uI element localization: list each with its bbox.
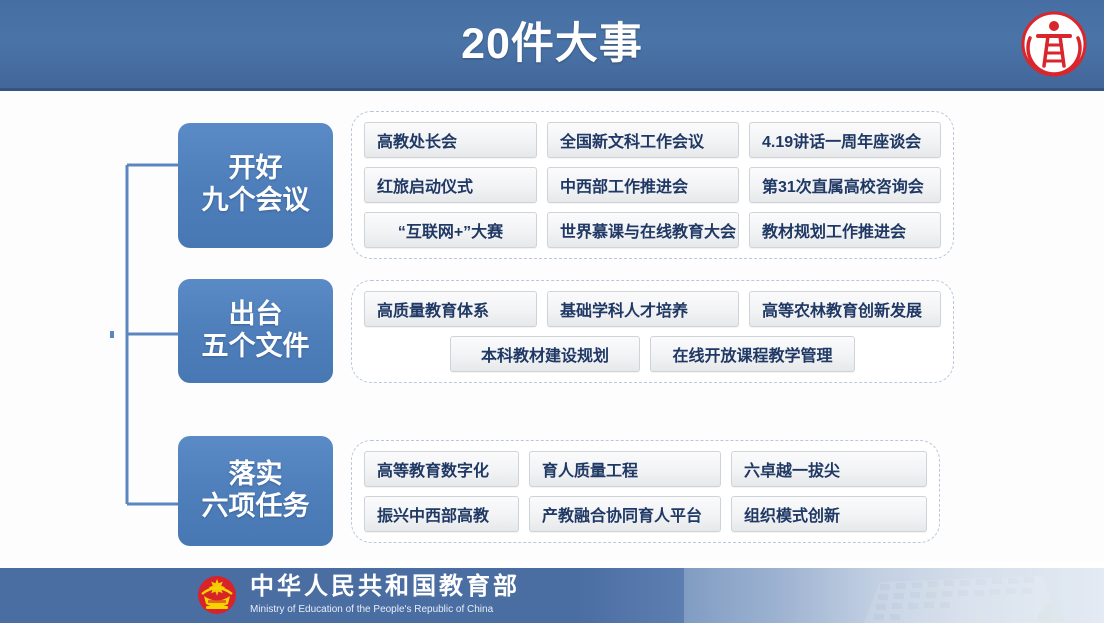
group-3-row-1: 高等教育数字化 育人质量工程 六卓越一拔尖 <box>364 451 927 487</box>
item-chip[interactable]: 基础学科人才培养 <box>547 291 739 327</box>
item-chip[interactable]: 本科教材建设规划 <box>450 336 640 372</box>
item-chip[interactable]: “互联网+”大赛 <box>364 212 537 248</box>
group-row-1: 开好 九个会议 高教处长会 全国新文科工作会议 4.19讲话一周年座谈会 红旅启… <box>178 111 954 259</box>
slide-header: 20件大事 <box>0 0 1104 88</box>
group-1-row-3: “互联网+”大赛 世界慕课与在线教育大会 教材规划工作推进会 <box>364 212 941 248</box>
group-1-row-1: 高教处长会 全国新文科工作会议 4.19讲话一周年座谈会 <box>364 122 941 158</box>
footer-brand: 中华人民共和国教育部 Ministry of Education of the … <box>196 574 520 616</box>
national-emblem-icon <box>196 574 238 616</box>
group-3-row-2: 振兴中西部高教 产教融合协同育人平台 组织模式创新 <box>364 496 927 532</box>
footer-ministry-name-en: Ministry of Education of the People's Re… <box>250 603 520 616</box>
group-2-items-container: 高质量教育体系 基础学科人才培养 高等农林教育创新发展 本科教材建设规划 在线开… <box>351 280 954 383</box>
item-chip[interactable]: 4.19讲话一周年座谈会 <box>749 122 941 158</box>
item-chip[interactable]: 六卓越一拔尖 <box>731 451 927 487</box>
group-2-row-1: 高质量教育体系 基础学科人才培养 高等农林教育创新发展 <box>364 291 941 327</box>
group-label-1-line2: 九个会议 <box>202 185 310 217</box>
group-row-3: 落实 六项任务 高等教育数字化 育人质量工程 六卓越一拔尖 振兴中西部高教 产教… <box>178 436 940 546</box>
item-chip[interactable]: 振兴中西部高教 <box>364 496 519 532</box>
footer-text-block: 中华人民共和国教育部 Ministry of Education of the … <box>250 574 520 615</box>
group-label-3[interactable]: 落实 六项任务 <box>178 436 333 546</box>
slide-root: 20件大事 开好 九个会议 <box>0 0 1104 623</box>
item-chip[interactable]: 组织模式创新 <box>731 496 927 532</box>
item-chip[interactable]: 世界慕课与在线教育大会 <box>547 212 739 248</box>
item-chip[interactable]: 红旅启动仪式 <box>364 167 537 203</box>
ministry-building-photo <box>684 568 1104 623</box>
item-chip[interactable]: 高教处长会 <box>364 122 537 158</box>
red-circular-emblem-icon <box>1018 8 1090 80</box>
item-chip[interactable]: 高等教育数字化 <box>364 451 519 487</box>
group-2-row-2: 本科教材建设规划 在线开放课程教学管理 <box>364 336 941 372</box>
item-chip[interactable]: 教材规划工作推进会 <box>749 212 941 248</box>
item-chip[interactable]: 高等农林教育创新发展 <box>749 291 941 327</box>
footer-ministry-name-cn: 中华人民共和国教育部 <box>250 574 520 600</box>
item-chip[interactable]: 高质量教育体系 <box>364 291 537 327</box>
group-row-2: 出台 五个文件 高质量教育体系 基础学科人才培养 高等农林教育创新发展 本科教材… <box>178 279 954 383</box>
item-chip[interactable]: 育人质量工程 <box>529 451 721 487</box>
item-chip[interactable]: 全国新文科工作会议 <box>547 122 739 158</box>
group-label-3-line2: 六项任务 <box>202 491 310 523</box>
group-label-2-line2: 五个文件 <box>202 331 310 363</box>
group-1-row-2: 红旅启动仪式 中西部工作推进会 第31次直属高校咨询会 <box>364 167 941 203</box>
page-title: 20件大事 <box>461 23 643 66</box>
group-label-1[interactable]: 开好 九个会议 <box>178 123 333 248</box>
group-label-2[interactable]: 出台 五个文件 <box>178 279 333 383</box>
item-chip[interactable]: 第31次直属高校咨询会 <box>749 167 941 203</box>
group-3-items-container: 高等教育数字化 育人质量工程 六卓越一拔尖 振兴中西部高教 产教融合协同育人平台… <box>351 440 940 543</box>
group-label-2-line1: 出台 <box>229 299 283 331</box>
slide-footer: 中华人民共和国教育部 Ministry of Education of the … <box>0 568 1104 623</box>
item-chip[interactable]: 中西部工作推进会 <box>547 167 739 203</box>
item-chip[interactable]: 在线开放课程教学管理 <box>650 336 855 372</box>
diagram-canvas: 开好 九个会议 高教处长会 全国新文科工作会议 4.19讲话一周年座谈会 红旅启… <box>0 91 1104 562</box>
group-label-3-line1: 落实 <box>229 459 283 491</box>
group-1-items-container: 高教处长会 全国新文科工作会议 4.19讲话一周年座谈会 红旅启动仪式 中西部工… <box>351 111 954 259</box>
group-label-1-line1: 开好 <box>229 153 283 185</box>
item-chip[interactable]: 产教融合协同育人平台 <box>529 496 721 532</box>
